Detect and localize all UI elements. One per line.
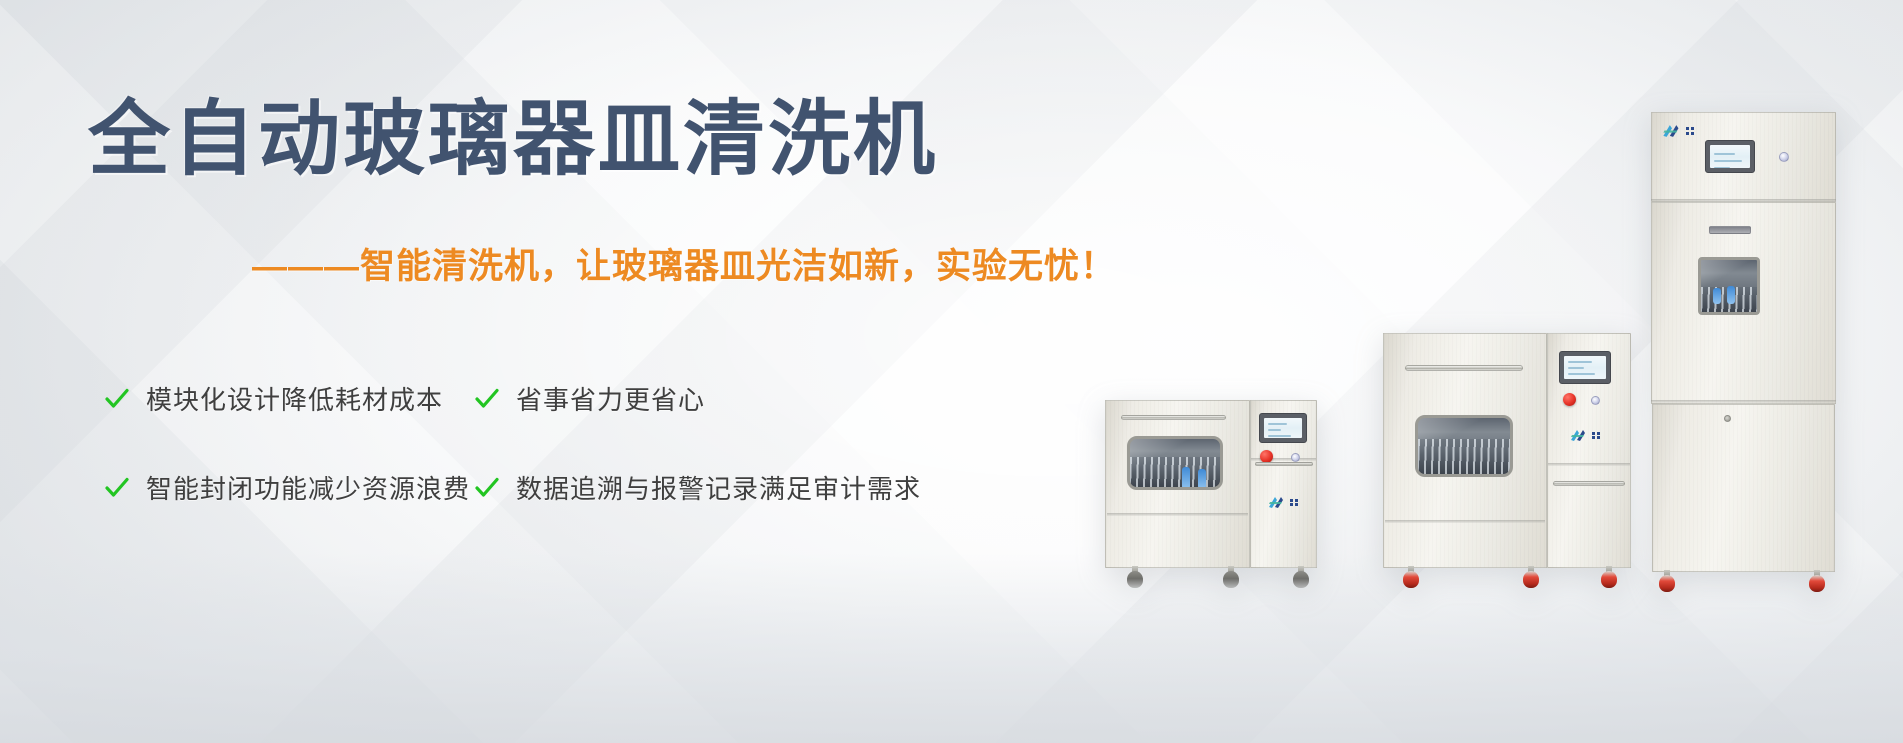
machine1-brand-logo xyxy=(1267,496,1298,509)
machine2-logo-dots xyxy=(1592,432,1600,440)
machine2-viewing-window xyxy=(1415,415,1513,477)
machine1-glassware-load xyxy=(1130,457,1220,487)
machine1-caster xyxy=(1223,566,1239,588)
machine3-viewing-window xyxy=(1698,257,1760,315)
machine3-logo-dots xyxy=(1686,127,1694,135)
machine1-door-handle xyxy=(1121,415,1226,420)
machine3-power-button[interactable] xyxy=(1779,152,1789,162)
machine1-power-button[interactable] xyxy=(1291,453,1300,462)
machine3-lower-seam xyxy=(1651,400,1836,403)
machine3-blue-rack-post xyxy=(1727,286,1735,304)
machine2-door-handle xyxy=(1405,365,1523,371)
check-icon xyxy=(104,386,130,412)
machine1-caster xyxy=(1293,566,1309,588)
machine1-logo-dots xyxy=(1290,499,1298,507)
machine3-caster xyxy=(1809,570,1825,592)
feature-item: 智能封闭功能减少资源浪费 xyxy=(104,469,474,506)
machine3-screen-display xyxy=(1710,145,1750,168)
machine1-caster xyxy=(1127,566,1143,588)
feature-label: 模块化设计降低耗材成本 xyxy=(146,380,443,417)
machine3-vent-slot xyxy=(1709,226,1751,234)
machine3-touchscreen-panel[interactable] xyxy=(1705,140,1755,173)
machine1-touchscreen-panel[interactable] xyxy=(1259,413,1307,443)
machine1-door-seam xyxy=(1107,513,1248,516)
check-icon xyxy=(104,475,130,501)
check-icon xyxy=(474,386,500,412)
machine2-column-seam xyxy=(1548,463,1630,466)
machine1-viewing-window xyxy=(1127,436,1223,490)
feature-label: 省事省力更省心 xyxy=(516,380,705,417)
feature-list: 模块化设计降低耗材成本 省事省力更省心 智能封闭功能减少资源浪费 数据追溯与报警… xyxy=(104,380,1054,506)
machine2-lower-handle xyxy=(1553,481,1625,486)
feature-label: 数据追溯与报警记录满足审计需求 xyxy=(516,469,921,506)
product-freestanding-glassware-washer xyxy=(1383,333,1643,583)
feature-label: 智能封闭功能减少资源浪费 xyxy=(146,469,470,506)
machine1-lower-handle xyxy=(1255,462,1313,466)
machine1-blue-rack-post xyxy=(1198,469,1206,489)
banner-text-content: 全自动玻璃器皿清洗机 ———智能清洗机，让玻璃器皿光洁如新，实验无忧！ 模块化设… xyxy=(0,0,1100,743)
product-undercounter-glassware-washer xyxy=(1105,400,1345,580)
machine2-caster xyxy=(1601,566,1617,588)
feature-item: 数据追溯与报警记录满足审计需求 xyxy=(474,469,1054,506)
machine2-caster xyxy=(1403,566,1419,588)
feature-item: 模块化设计降低耗材成本 xyxy=(104,380,474,417)
machine3-blue-rack-post xyxy=(1713,288,1721,304)
machine3-caster xyxy=(1659,570,1675,592)
product-tall-column-glassware-washer xyxy=(1651,112,1851,584)
machine1-screen-display xyxy=(1264,418,1302,438)
machine2-touchscreen-panel[interactable] xyxy=(1559,351,1611,384)
machine1-blue-rack-post xyxy=(1182,467,1190,489)
feature-item: 省事省力更省心 xyxy=(474,380,1054,417)
machine2-power-button[interactable] xyxy=(1591,396,1600,405)
page-title: 全自动玻璃器皿清洗机 xyxy=(88,96,938,185)
machine3-cabinet-lock[interactable] xyxy=(1724,415,1731,422)
machine2-brand-logo xyxy=(1569,429,1600,442)
machine2-emergency-stop-button[interactable] xyxy=(1563,393,1576,406)
machine3-brand-logo xyxy=(1661,124,1694,138)
promotional-banner: 全自动玻璃器皿清洗机 ———智能清洗机，让玻璃器皿光洁如新，实验无忧！ 模块化设… xyxy=(0,0,1903,743)
machine2-screen-display xyxy=(1564,356,1606,379)
machine2-caster xyxy=(1523,566,1539,588)
check-icon xyxy=(474,475,500,501)
machine3-lower-cabinet xyxy=(1652,404,1835,572)
machine2-glassware-load xyxy=(1418,439,1510,474)
page-subtitle: ———智能清洗机，让玻璃器皿光洁如新，实验无忧！ xyxy=(252,238,1116,289)
machine3-upper-seam xyxy=(1651,199,1836,202)
machine2-door-seam xyxy=(1385,520,1545,523)
